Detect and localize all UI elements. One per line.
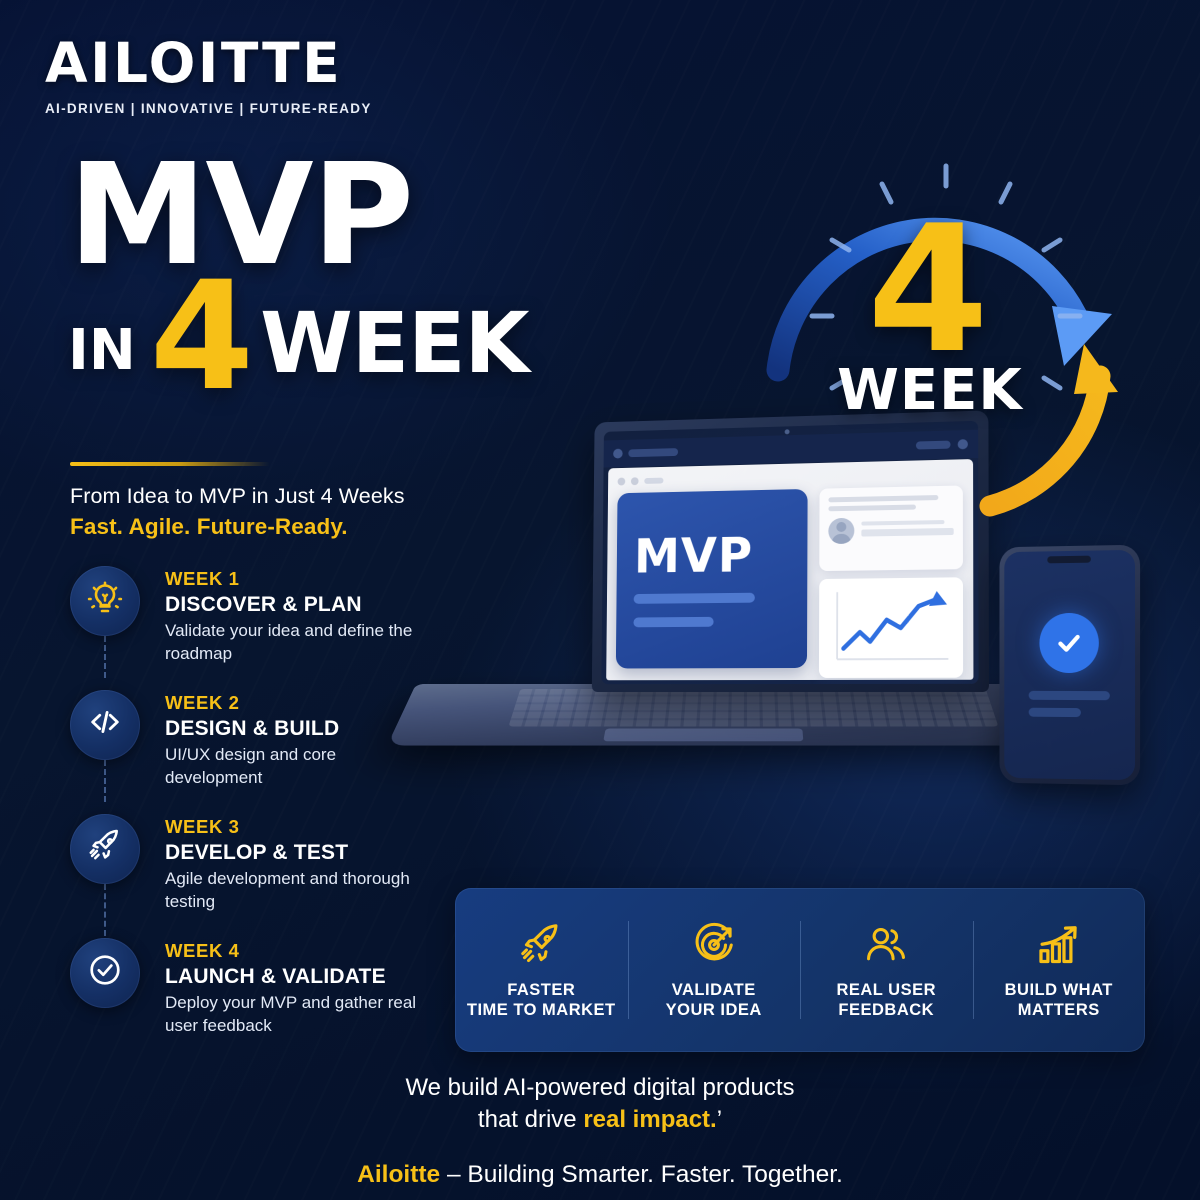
rocket-icon (518, 920, 564, 970)
timeline-badge-week-3 (70, 814, 140, 884)
timeline-week-label: WEEK 1 (165, 567, 430, 590)
rocket-icon (87, 828, 123, 869)
subheading-line-2: Fast. Agile. Future-Ready. (70, 514, 348, 540)
timeline-week-label: WEEK 3 (165, 815, 430, 838)
headline-mvp: MVP (68, 152, 529, 281)
page-title: MVP IN 4 WEEK (68, 152, 529, 397)
phone-placeholder-line (1029, 708, 1081, 717)
timeline-title: DESIGN & BUILD (165, 715, 430, 742)
timeline-title: LAUNCH & VALIDATE (165, 963, 430, 990)
benefit-item-real-user-feedback: REAL USER FEEDBACK (800, 888, 973, 1052)
clock-center-label: 4 WEEK (752, 216, 1152, 419)
timeline-connector (104, 636, 106, 678)
timeline-connector (104, 760, 106, 802)
bar-chart-up-icon (1036, 920, 1082, 970)
footer-highlight: real impact. (583, 1106, 716, 1133)
logo-wordmark: AILOITTE (45, 36, 342, 91)
benefit-label-line-2: MATTERS (1018, 1001, 1100, 1019)
timeline-description: Deploy your MVP and gather real user fee… (165, 992, 430, 1038)
timeline-week-label: WEEK 2 (165, 691, 430, 714)
phone-notch (1047, 556, 1091, 564)
window-dot-icon (618, 478, 626, 486)
timeline-connector (104, 884, 106, 936)
benefit-label-line-2: TIME TO MARKET (467, 1001, 616, 1019)
headline-number: 4 (150, 277, 254, 397)
countdown-clock-graphic: 4 WEEK (752, 108, 1152, 528)
laptop-trackpad (603, 729, 803, 742)
mvp-card-line (633, 617, 713, 627)
footer-quote: ’ (717, 1106, 722, 1133)
lightbulb-icon (87, 581, 123, 622)
timeline-title: DEVELOP & TEST (165, 839, 430, 866)
benefit-label-line-2: YOUR IDEA (666, 1001, 762, 1019)
benefit-item-build-what-matters: BUILD WHAT MATTERS (973, 888, 1146, 1052)
footer-text: that drive (478, 1106, 583, 1133)
timeline-description: Agile development and thorough testing (165, 868, 430, 914)
timeline-item-week-4: WEEK 4 LAUNCH & VALIDATE Deploy your MVP… (70, 938, 430, 1038)
accent-divider (70, 462, 270, 466)
target-arrow-icon (691, 920, 737, 970)
benefit-item-faster-time-to-market: FASTER TIME TO MARKET (455, 888, 628, 1052)
address-bar (628, 448, 678, 457)
headline-in: IN (68, 323, 136, 379)
timeline-item-week-1: WEEK 1 DISCOVER & PLAN Validate your ide… (70, 566, 430, 666)
week-timeline: WEEK 1 DISCOVER & PLAN Validate your ide… (70, 566, 430, 1038)
footer-slogan: – Building Smarter. Faster. Together. (440, 1161, 843, 1188)
window-tab (644, 478, 663, 484)
timeline-item-week-3: WEEK 3 DEVELOP & TEST Agile development … (70, 814, 430, 914)
benefit-item-validate-your-idea: VALIDATE YOUR IDEA (628, 888, 801, 1052)
timeline-week-label: WEEK 4 (165, 939, 430, 962)
subheading-line-1: From Idea to MVP in Just 4 Weeks (70, 484, 405, 509)
timeline-description: UI/UX design and core development (165, 744, 430, 790)
trending-chart-card (819, 577, 963, 678)
profile-line (861, 527, 953, 536)
code-brackets-icon (87, 704, 123, 745)
headline-week: WEEK (260, 301, 529, 385)
browser-dot-icon (613, 449, 623, 459)
brand-logo: AILOITTE AI-DRIVEN | INNOVATIVE | FUTURE… (45, 36, 372, 116)
logo-tagline: AI-DRIVEN | INNOVATIVE | FUTURE-READY (45, 101, 372, 116)
timeline-badge-week-4 (70, 938, 140, 1008)
users-icon (863, 920, 909, 970)
benefit-label-line-1: BUILD WHAT (1005, 981, 1113, 999)
laptop-base (387, 684, 1105, 746)
footer-brand: Ailoitte (357, 1161, 440, 1188)
timeline-item-week-2: WEEK 2 DESIGN & BUILD UI/UX design and c… (70, 690, 430, 790)
footer-line-2: Ailoitte – Building Smarter. Faster. Tog… (0, 1161, 1200, 1189)
benefit-label-line-1: FASTER (507, 981, 575, 999)
timeline-description: Validate your idea and define the roadma… (165, 620, 430, 666)
timeline-title: DISCOVER & PLAN (165, 591, 430, 618)
window-dot-icon (631, 477, 639, 485)
success-check-icon (1039, 613, 1098, 673)
footer: We build AI-powered digital products tha… (0, 1072, 1200, 1189)
phone-mockup (999, 545, 1140, 786)
clock-unit: WEEK (708, 363, 1152, 419)
benefit-label-line-2: FEEDBACK (838, 1001, 934, 1019)
timeline-badge-week-2 (70, 690, 140, 760)
benefits-bar: FASTER TIME TO MARKET VALIDATE YOUR IDEA (455, 888, 1145, 1052)
trend-line-chart (827, 585, 955, 670)
benefit-label-line-1: REAL USER (836, 981, 936, 999)
benefit-label-line-1: VALIDATE (672, 981, 756, 999)
phone-placeholder-line (1029, 691, 1110, 700)
timeline-badge-week-1 (70, 566, 140, 636)
mvp-infographic-poster: AILOITTE AI-DRIVEN | INNOVATIVE | FUTURE… (0, 0, 1200, 1200)
footer-line-1b: that drive real impact.’ (0, 1104, 1200, 1136)
laptop-keyboard (508, 689, 998, 727)
check-circle-icon (86, 951, 124, 994)
mvp-card-label: MVP (634, 531, 790, 581)
footer-line-1a: We build AI-powered digital products (0, 1072, 1200, 1104)
mvp-card-line (634, 593, 755, 604)
clock-number: 4 (704, 216, 1152, 367)
phone-screen (1004, 550, 1135, 780)
